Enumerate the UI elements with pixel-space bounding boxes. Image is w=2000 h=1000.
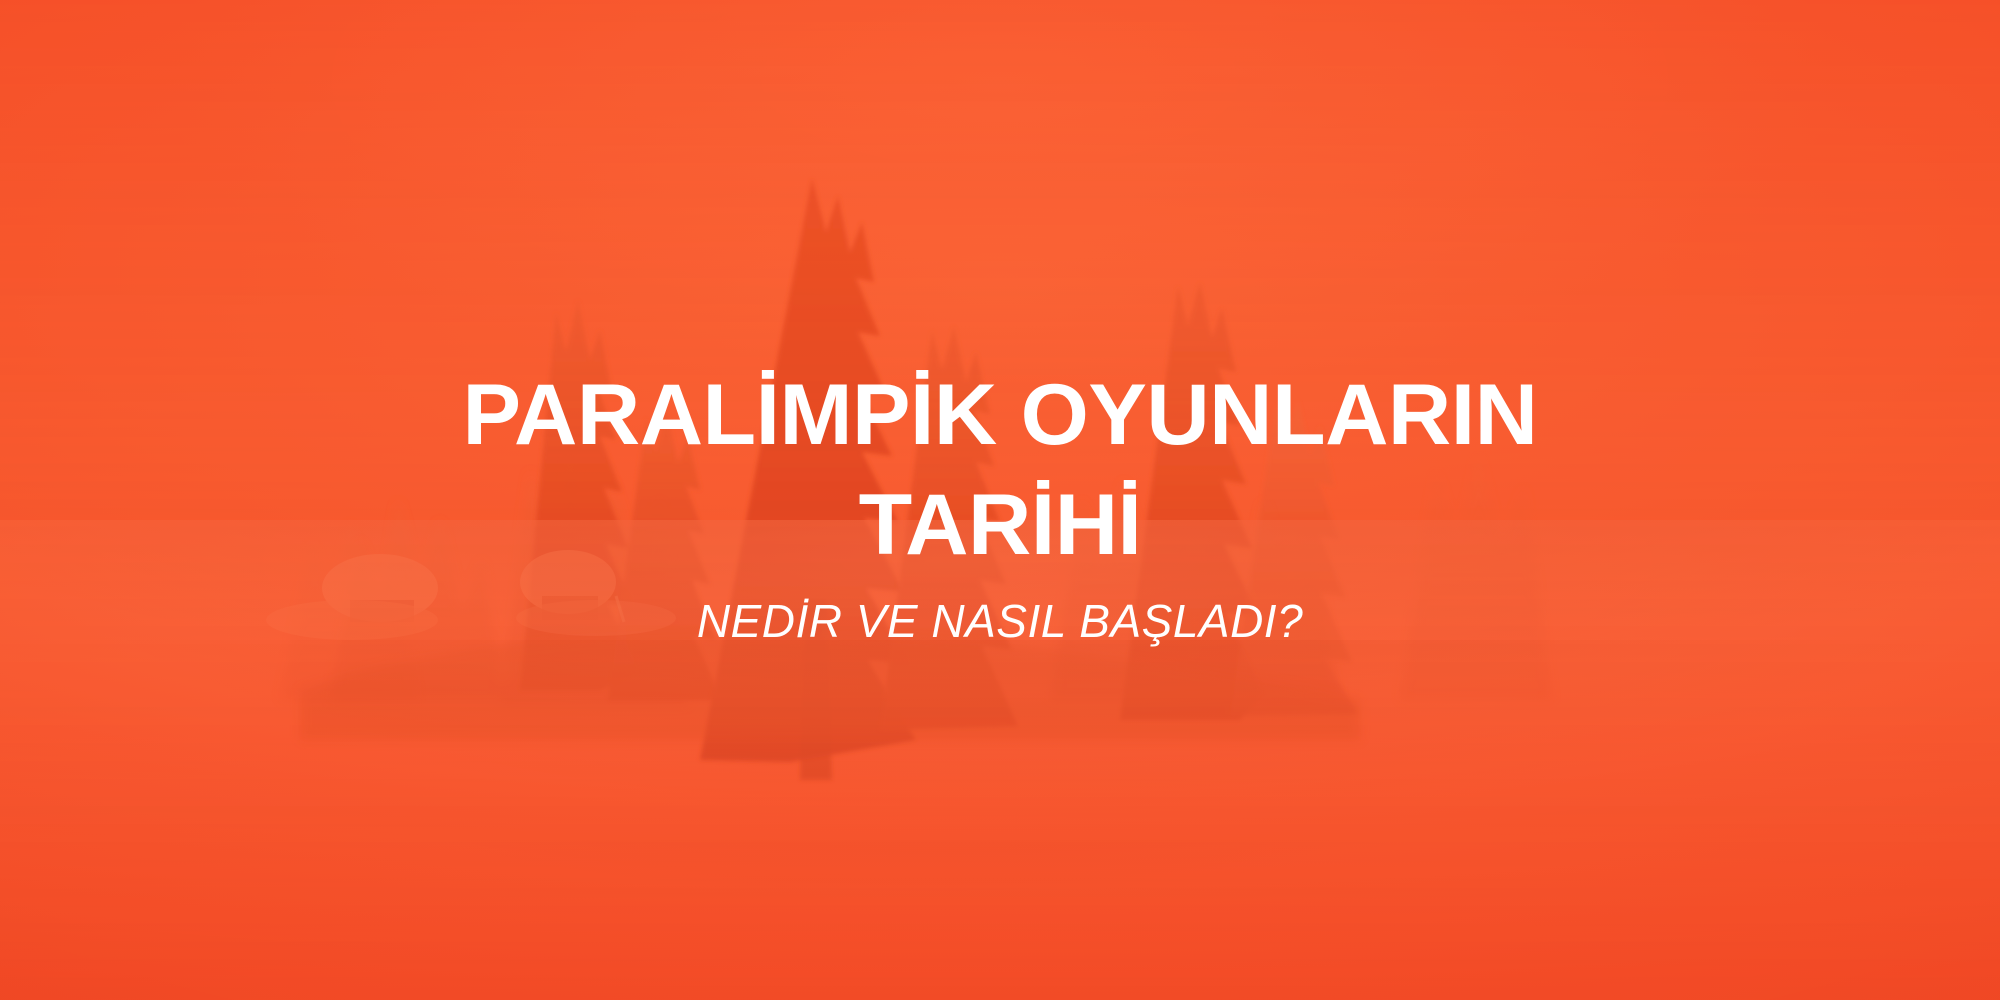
hero-banner: PARALİMPİK OYUNLARIN TARİHİ NEDİR VE NAS… bbox=[0, 0, 2000, 1000]
banner-headline-line-2: TARİHİ bbox=[0, 470, 2000, 580]
banner-text-block: PARALİMPİK OYUNLARIN TARİHİ NEDİR VE NAS… bbox=[0, 360, 2000, 644]
banner-headline-line-1: PARALİMPİK OYUNLARIN bbox=[0, 360, 2000, 470]
banner-subtitle: NEDİR VE NASIL BAŞLADI? bbox=[0, 598, 2000, 644]
